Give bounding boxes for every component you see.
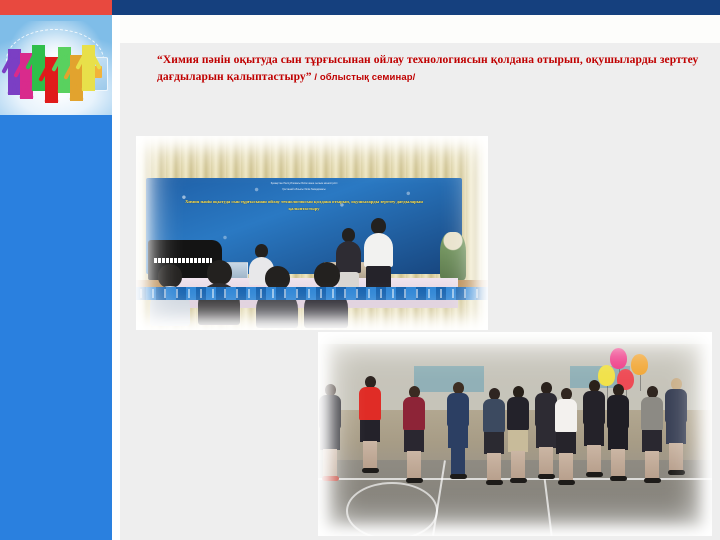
photo-outdoor-group bbox=[318, 332, 712, 536]
photo-seminar-hall: Қазақстан Республикасы Білім және ғылым … bbox=[136, 136, 488, 330]
court-circle bbox=[346, 482, 438, 536]
balloon-yellow bbox=[598, 365, 615, 386]
hall-flower-stand bbox=[440, 232, 466, 280]
slide-canvas: “Химия пәнін оқытуда сын тұрғысынан ойла… bbox=[0, 0, 720, 540]
group-building-left bbox=[414, 366, 484, 392]
page-title-quoted: “Химия пәнін оқытуда сын тұрғысынан ойла… bbox=[157, 54, 698, 83]
hall-ornament-border bbox=[136, 287, 488, 300]
figure-green-left bbox=[32, 45, 45, 91]
top-band-navy bbox=[112, 0, 720, 15]
page-title-suffix: / облыстық семинар/ bbox=[312, 72, 416, 83]
photo-outdoor-group-content bbox=[318, 332, 712, 536]
page-title: “Химия пәнін оқытуда сын тұрғысынан ойла… bbox=[157, 52, 713, 86]
logo-image-people bbox=[0, 15, 112, 115]
content-top-white-strip bbox=[120, 15, 720, 43]
hall-banner-text: Химия пәнін оқытуда сын тұрғысынан ойлау… bbox=[178, 198, 431, 212]
figure-yellow bbox=[82, 45, 95, 91]
hall-standing-woman-2 bbox=[362, 218, 394, 294]
top-band-red bbox=[0, 0, 112, 15]
court-line-v1 bbox=[432, 460, 446, 535]
photo-seminar-hall-content: Қазақстан Республикасы Білім және ғылым … bbox=[136, 136, 488, 330]
hall-banner-headline: Қазақстан Республикасы Білім және ғылым … bbox=[197, 182, 412, 186]
balloon-orange bbox=[631, 354, 648, 375]
balloon-pink bbox=[610, 348, 627, 369]
sidebar-blue-panel bbox=[0, 115, 112, 540]
hall-banner-subline: Қостанай облысы білім басқармасы bbox=[197, 188, 412, 192]
